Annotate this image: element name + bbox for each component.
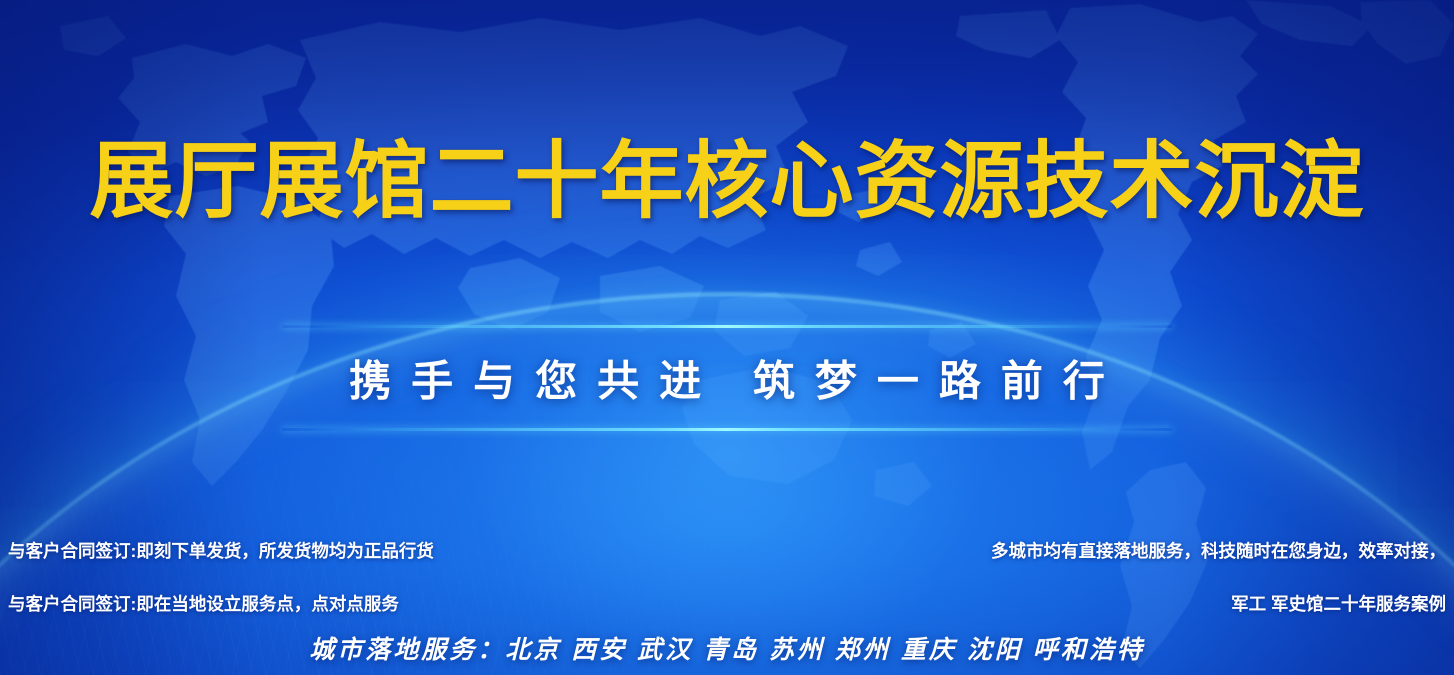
promo-banner: 展厅展馆二十年核心资源技术沉淀 携手与您共进 筑梦一路前行 与客户合同签订:即刻…	[0, 0, 1454, 675]
city-service-list: 城市落地服务：北京 西安 武汉 青岛 苏州 郑州 重庆 沈阳 呼和浩特	[0, 630, 1454, 666]
page-title: 展厅展馆二十年核心资源技术沉淀	[0, 137, 1454, 226]
note-right-second: 军工 军史馆二十年服务案例	[1231, 591, 1446, 616]
note-left-second: 与客户合同签订:即在当地设立服务点，点对点服务	[8, 591, 399, 616]
note-left-first: 与客户合同签订:即刻下单发货，所发货物均为正品行货	[8, 538, 434, 563]
subtitle-band: 携手与您共进 筑梦一路前行	[282, 325, 1172, 431]
banner-content: 展厅展馆二十年核心资源技术沉淀 携手与您共进 筑梦一路前行 与客户合同签订:即刻…	[0, 0, 1454, 675]
note-right-first: 多城市均有直接落地服务，科技随时在您身边，效率对接，	[991, 538, 1446, 563]
divider-line-bottom	[282, 428, 1172, 431]
page-subtitle: 携手与您共进 筑梦一路前行	[282, 348, 1172, 409]
divider-line-top	[282, 325, 1172, 328]
